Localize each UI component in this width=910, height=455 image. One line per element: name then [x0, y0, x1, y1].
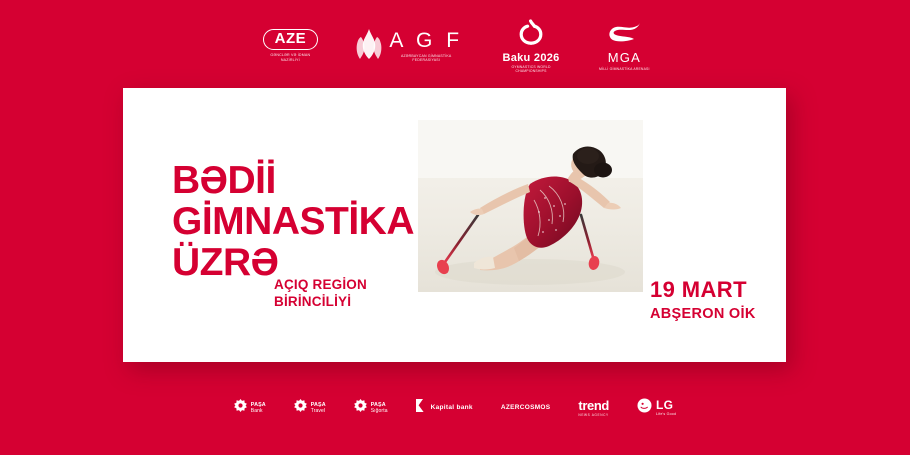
event-date: 19 MART [650, 278, 780, 302]
sponsor-logo-strip: PAŞA Bank PAŞA Travel [0, 395, 910, 421]
pasha-travel-sub: Travel [311, 408, 326, 414]
kapital-bank-name: Kapital bank [431, 404, 473, 412]
event-venue: ABŞERON OİK [650, 306, 780, 322]
agf-letters: A G F [389, 30, 463, 52]
kapital-k-icon [416, 399, 427, 417]
aze-ministry-logo: AZE GƏNCLƏR VƏ İDMAN NAZİRLİYİ [260, 29, 320, 62]
headline-subtitle-line-2: BİRİNCİLİYİ [274, 293, 424, 310]
sponsor-pasha-bank: PAŞA Bank [234, 399, 266, 417]
pasha-bank-text: PAŞA Bank [251, 402, 266, 414]
lg-name: LG [656, 399, 676, 412]
pasha-travel-text: PAŞA Travel [311, 402, 326, 414]
event-poster: AZE GƏNCLƏR VƏ İDMAN NAZİRLİYİ A G F [0, 0, 910, 455]
trend-name: trend [578, 399, 609, 413]
lg-face-icon [637, 398, 652, 418]
baku-wordmark: Baku 2026 [502, 52, 559, 64]
partner-logo-strip: AZE GƏNCLƏR VƏ İDMAN NAZİRLİYİ A G F [0, 22, 910, 70]
aze-pill-icon: AZE [263, 29, 319, 50]
sponsor-pasha-sigorta: PAŞA Sığorta [354, 399, 388, 417]
pasha-gear-icon [294, 399, 307, 417]
poster-card: BƏDİİ GİMNASTİKA ÜZRƏ AÇIQ REGİON BİRİNC… [123, 88, 786, 362]
mga-wordmark: MGA [608, 51, 641, 65]
mga-logo: MGA MİLLİ GİMNASTİKA ARENASI [599, 21, 650, 71]
gymnast-photo [418, 120, 643, 292]
trend-text: trend NEWS AGENCY [578, 399, 609, 417]
sponsor-trend: trend NEWS AGENCY [578, 399, 609, 417]
sponsor-lg: LG Life's Good [637, 398, 676, 418]
lg-text: LG Life's Good [656, 399, 676, 416]
agf-logo: A G F AZƏRBAYCAN GİMNASTİKA FEDERASİYASI [356, 28, 463, 65]
baku-2026-logo: Baku 2026 GYMNASTICS WORLD CHAMPIONSHIPS [499, 19, 563, 73]
agf-flame-icon [356, 28, 382, 65]
mga-subtitle: MİLLİ GİMNASTİKA ARENASI [599, 67, 650, 71]
agf-subtitle: AZƏRBAYCAN GİMNASTİKA FEDERASİYASI [393, 54, 459, 63]
sponsor-azercosmos: AZERCOSMOS [501, 404, 551, 412]
agf-lockup: A G F AZƏRBAYCAN GİMNASTİKA FEDERASİYASI [356, 28, 463, 65]
baku-subtitle: GYMNASTICS WORLD CHAMPIONSHIPS [499, 65, 563, 73]
sponsor-kapital-bank: Kapital bank [416, 399, 473, 417]
mga-ribbon-icon [607, 21, 641, 48]
trend-tagline: NEWS AGENCY [578, 413, 609, 417]
headline-subtitle-block: AÇIQ REGİON BİRİNCİLİYİ [274, 276, 424, 310]
aze-ministry-subtitle: GƏNCLƏR VƏ İDMAN NAZİRLİYİ [260, 53, 320, 62]
azercosmos-name: AZERCOSMOS [501, 404, 551, 412]
baku-flame-ring-icon [518, 19, 544, 50]
headline-subtitle-line-1: AÇIQ REGİON [274, 276, 424, 293]
pasha-bank-sub: Bank [251, 408, 266, 414]
pasha-sigorta-sub: Sığorta [371, 408, 388, 414]
lg-tagline: Life's Good [656, 412, 676, 416]
sponsor-pasha-travel: PAŞA Travel [294, 399, 326, 417]
pasha-gear-icon [354, 399, 367, 417]
pasha-gear-icon [234, 399, 247, 417]
pasha-sigorta-text: PAŞA Sığorta [371, 402, 388, 414]
event-date-block: 19 MART ABŞERON OİK [650, 278, 780, 322]
agf-text-block: A G F AZƏRBAYCAN GİMNASTİKA FEDERASİYASI [389, 30, 463, 63]
